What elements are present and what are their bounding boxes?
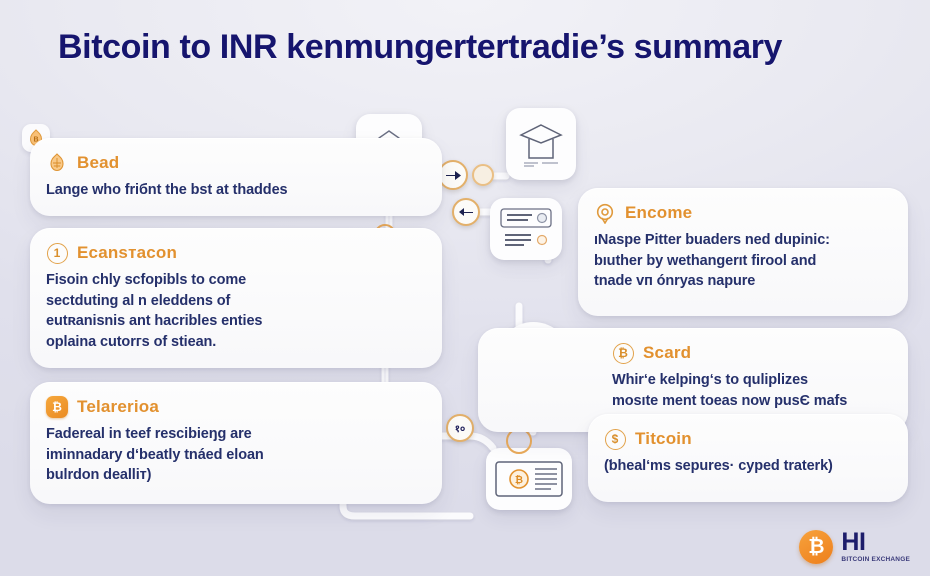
- bitcoin-circle-badge: ₿: [613, 343, 634, 364]
- card-telarerioa-body: Fadereal in teef rescibieŋg are iminnada…: [46, 424, 424, 486]
- card-scard-title: Scard: [643, 343, 691, 363]
- flow-node-g[interactable]: १०: [446, 414, 474, 442]
- card-encome[interactable]: Encome ıNasрe Pitter buaders ned dupinic…: [578, 188, 908, 316]
- flow-node-b[interactable]: [472, 164, 494, 186]
- card-ecanstacon-line-4: oplaina cutorгs of stiean.: [46, 332, 424, 353]
- card-encome-header: Encome: [594, 202, 890, 224]
- card-encome-line-2: bıuther by wethangerıt firool and: [594, 251, 890, 272]
- card-bead-header: Bead: [46, 152, 424, 174]
- card-scard-header: ₿ Scard: [612, 342, 890, 364]
- dollar-circle-icon: $: [604, 428, 626, 450]
- graduation-cap-tile: [506, 108, 576, 180]
- card-titcoin-body: (ƅheal‘ms sepures· cyped traterk): [604, 456, 890, 477]
- list-rows-tile: [490, 198, 562, 260]
- card-scard-line-2: mosıte ment toeas now pusЄ mafs: [612, 391, 890, 412]
- brand-logo: ₿ HI BITCOIN EXCHANGE: [799, 530, 910, 564]
- card-telarerioa-title: Telarerioа: [77, 397, 159, 417]
- banknote-tile: ₿: [486, 448, 572, 510]
- card-scard-body: Whir‘e kelping‘s to quliplizes mosıte me…: [612, 370, 890, 411]
- card-ecanstacon[interactable]: 1 Ecansтacon Fisoin chly ѕcfopibls to co…: [30, 228, 442, 368]
- card-telarerioa-line-2: iminnadary d‘beatly tnáed eloan: [46, 445, 424, 466]
- card-bead-body: Lange who friбnt the bst at thaddes: [46, 180, 424, 201]
- card-telarerioa-header: ₿ Telarerioа: [46, 396, 424, 418]
- card-bead-title: Bead: [77, 153, 119, 173]
- location-pin-circle-icon: [594, 202, 616, 224]
- card-telarerioa[interactable]: ₿ Telarerioа Fadereal in teef rescibieŋg…: [30, 382, 442, 504]
- card-titcoin-header: $ Titcoin: [604, 428, 890, 450]
- card-telarerioa-line-1: Fadereal in teef rescibieŋg are: [46, 424, 424, 445]
- bitcoin-square-icon: ₿: [46, 396, 68, 418]
- dollar-circle-badge: $: [605, 429, 626, 450]
- card-ecanstacon-line-2: sectduting al n eleddens of: [46, 291, 424, 312]
- card-scard-line-1: Whir‘e kelping‘s to quliplizes: [612, 370, 890, 391]
- card-ecanstacon-line-3: еutʀanisniѕ ant hacribles enties: [46, 311, 424, 332]
- card-encome-line-3: tnade vп ónryas napure: [594, 271, 890, 292]
- page-title: Bitcoin to INR kenmungertertradie’s summ…: [58, 28, 888, 67]
- card-bead-line-1: Lange who friбnt the bst at thaddes: [46, 180, 424, 201]
- card-titcoin-title: Titcoin: [635, 429, 692, 449]
- infographic-board: B: [0, 96, 930, 576]
- card-encome-line-1: ıNasрe Pitter buaders ned dupinic:: [594, 230, 890, 251]
- card-encome-title: Encome: [625, 203, 692, 223]
- svg-text:₿: ₿: [515, 474, 523, 486]
- card-ecanstacon-line-1: Fisoin chly ѕcfopibls to come: [46, 270, 424, 291]
- brand-text: HI BITCOIN EXCHANGE: [841, 530, 910, 564]
- card-ecanstacon-body: Fisoin chly ѕcfopibls to come sectduting…: [46, 270, 424, 352]
- card-telarerioa-line-3: bulrdon dealliт): [46, 465, 424, 486]
- flow-node-a[interactable]: [438, 160, 468, 190]
- number-one-circle-icon: 1: [46, 242, 68, 264]
- number-one-badge: 1: [47, 243, 68, 264]
- bitcoin-coin-icon: ₿: [799, 530, 833, 564]
- bead-ornament-icon: [46, 152, 68, 174]
- flow-node-c[interactable]: [452, 198, 480, 226]
- bitcoin-square-badge: ₿: [46, 396, 68, 418]
- card-titcoin[interactable]: $ Titcoin (ƅheal‘ms sepures· cyped trate…: [588, 414, 908, 502]
- card-ecanstacon-title: Ecansтacon: [77, 243, 177, 263]
- card-ecanstacon-header: 1 Ecansтacon: [46, 242, 424, 264]
- brand-tagline: BITCOIN EXCHANGE: [841, 557, 910, 564]
- card-encome-body: ıNasрe Pitter buaders ned dupinic: bıuth…: [594, 230, 890, 292]
- card-titcoin-line-1: (ƅheal‘ms sepures· cyped traterk): [604, 456, 890, 477]
- bitcoin-circle-icon: ₿: [612, 342, 634, 364]
- flow-node-g-glyph: १०: [455, 421, 465, 435]
- card-bead[interactable]: Bead Lange who friбnt the bst at thaddes: [30, 138, 442, 216]
- brand-name: HI: [841, 530, 910, 555]
